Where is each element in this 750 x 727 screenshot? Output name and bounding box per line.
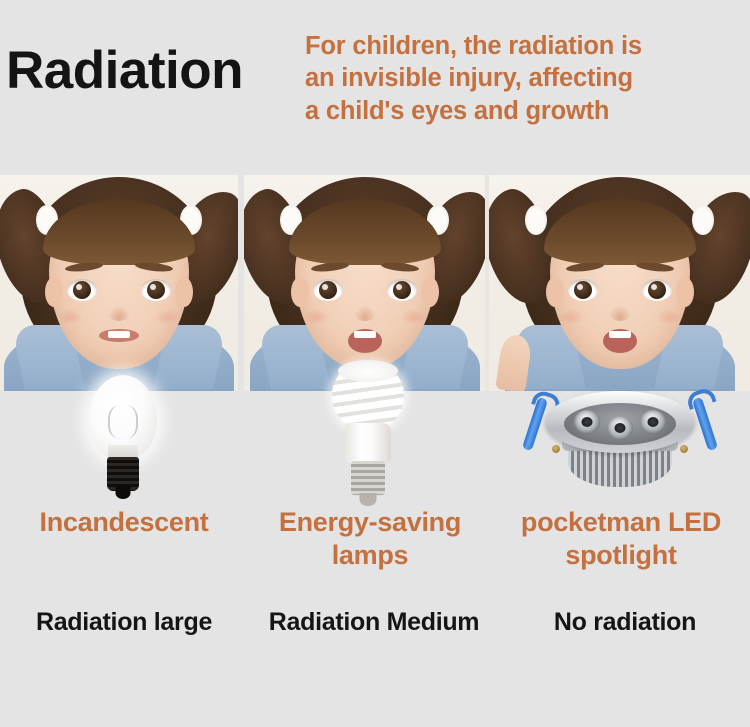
ear-right-icon	[421, 277, 439, 307]
eye-right-icon	[141, 279, 171, 301]
product-name-line-1: pocketman LED	[521, 507, 721, 537]
led-trim-ring	[545, 391, 695, 453]
led-emitter-1	[574, 410, 600, 434]
product-name-incandescent: Incandescent	[0, 506, 248, 539]
hair-tie-right-icon	[692, 205, 714, 235]
mouth-icon	[348, 329, 382, 353]
ear-left-icon	[45, 277, 63, 307]
cfl-contact-tip	[359, 493, 376, 506]
mouth-icon	[99, 329, 139, 342]
radiation-infographic-poster: Radiation For children, the radiation is…	[0, 0, 750, 727]
radiation-level-energy-saving: Radiation Medium	[248, 608, 500, 637]
radiation-level-incandescent: Radiation large	[0, 608, 248, 637]
product-name-labels: Incandescent Energy-saving lamps pocketm…	[0, 506, 750, 592]
eyebrow-right-icon	[135, 261, 174, 273]
cheek-right	[656, 309, 682, 325]
cheek-right	[155, 309, 181, 325]
child-photo-1	[0, 175, 238, 391]
child-photo-3	[489, 175, 750, 391]
ear-right-icon	[676, 277, 694, 307]
eye-left-icon	[313, 279, 343, 301]
ear-left-icon	[291, 277, 309, 307]
product-name-line-2: spotlight	[565, 540, 676, 570]
cfl-spiral-bulb-icon	[329, 363, 407, 509]
eye-left-icon	[67, 279, 97, 301]
product-name-line-2: lamps	[332, 540, 409, 570]
product-name-led-spotlight: pocketman LED spotlight	[492, 506, 750, 572]
eyebrow-right-icon	[635, 261, 674, 273]
cfl-spiral-tube	[332, 363, 404, 429]
child-photo-strip	[0, 175, 750, 391]
eyebrow-left-icon	[565, 261, 604, 273]
mouth-icon	[603, 329, 637, 353]
led-screw-left-icon	[552, 445, 560, 453]
eye-right-icon	[387, 279, 417, 301]
subtitle-line-3: a child's eyes and growth	[305, 95, 705, 127]
child-photo-2	[244, 175, 485, 391]
product-name-line-1: Energy-saving	[279, 507, 461, 537]
nose-icon	[609, 305, 631, 321]
eyebrow-left-icon	[310, 261, 349, 273]
radiation-level-labels: Radiation large Radiation Medium No radi…	[0, 608, 750, 648]
lamp-cell-cfl	[245, 391, 490, 509]
eye-right-icon	[642, 279, 672, 301]
hair-tie-left-icon	[525, 205, 547, 235]
subtitle-line-1: For children, the radiation is	[305, 30, 705, 62]
eyebrow-left-icon	[65, 261, 104, 273]
spring-clip-right-icon	[692, 397, 718, 451]
led-spotlight-icon: LED	[520, 383, 720, 505]
bulb-contact-tip	[115, 487, 130, 499]
led-emitter-2	[607, 416, 633, 440]
cheek-left	[57, 309, 83, 325]
led-emitter-3	[640, 410, 666, 434]
page-title: Radiation	[6, 44, 243, 97]
led-screw-right-icon	[680, 445, 688, 453]
filament-icon	[108, 405, 138, 439]
lamp-cell-led: LED	[490, 391, 750, 509]
nose-icon	[354, 305, 376, 321]
bulb-screw-base	[107, 457, 139, 491]
incandescent-bulb-icon	[87, 375, 159, 503]
eyebrow-right-icon	[380, 261, 419, 273]
subtitle-line-2: an invisible injury, affecting	[305, 62, 705, 94]
cheek-left	[558, 309, 584, 325]
cheek-right	[401, 309, 427, 325]
led-reflector	[564, 403, 676, 445]
cfl-body	[345, 423, 391, 463]
lamp-product-row: LED	[0, 391, 750, 509]
ear-right-icon	[175, 277, 193, 307]
lamp-cell-incandescent	[0, 391, 245, 509]
cheek-left	[303, 309, 329, 325]
eye-left-icon	[568, 279, 598, 301]
ear-left-icon	[546, 277, 564, 307]
header: Radiation For children, the radiation is…	[0, 0, 750, 175]
nose-icon	[108, 305, 130, 321]
cfl-screw-base	[351, 461, 385, 495]
product-name-energy-saving: Energy-saving lamps	[248, 506, 492, 572]
radiation-level-led: No radiation	[500, 608, 750, 637]
header-subtitle: For children, the radiation is an invisi…	[305, 30, 705, 127]
